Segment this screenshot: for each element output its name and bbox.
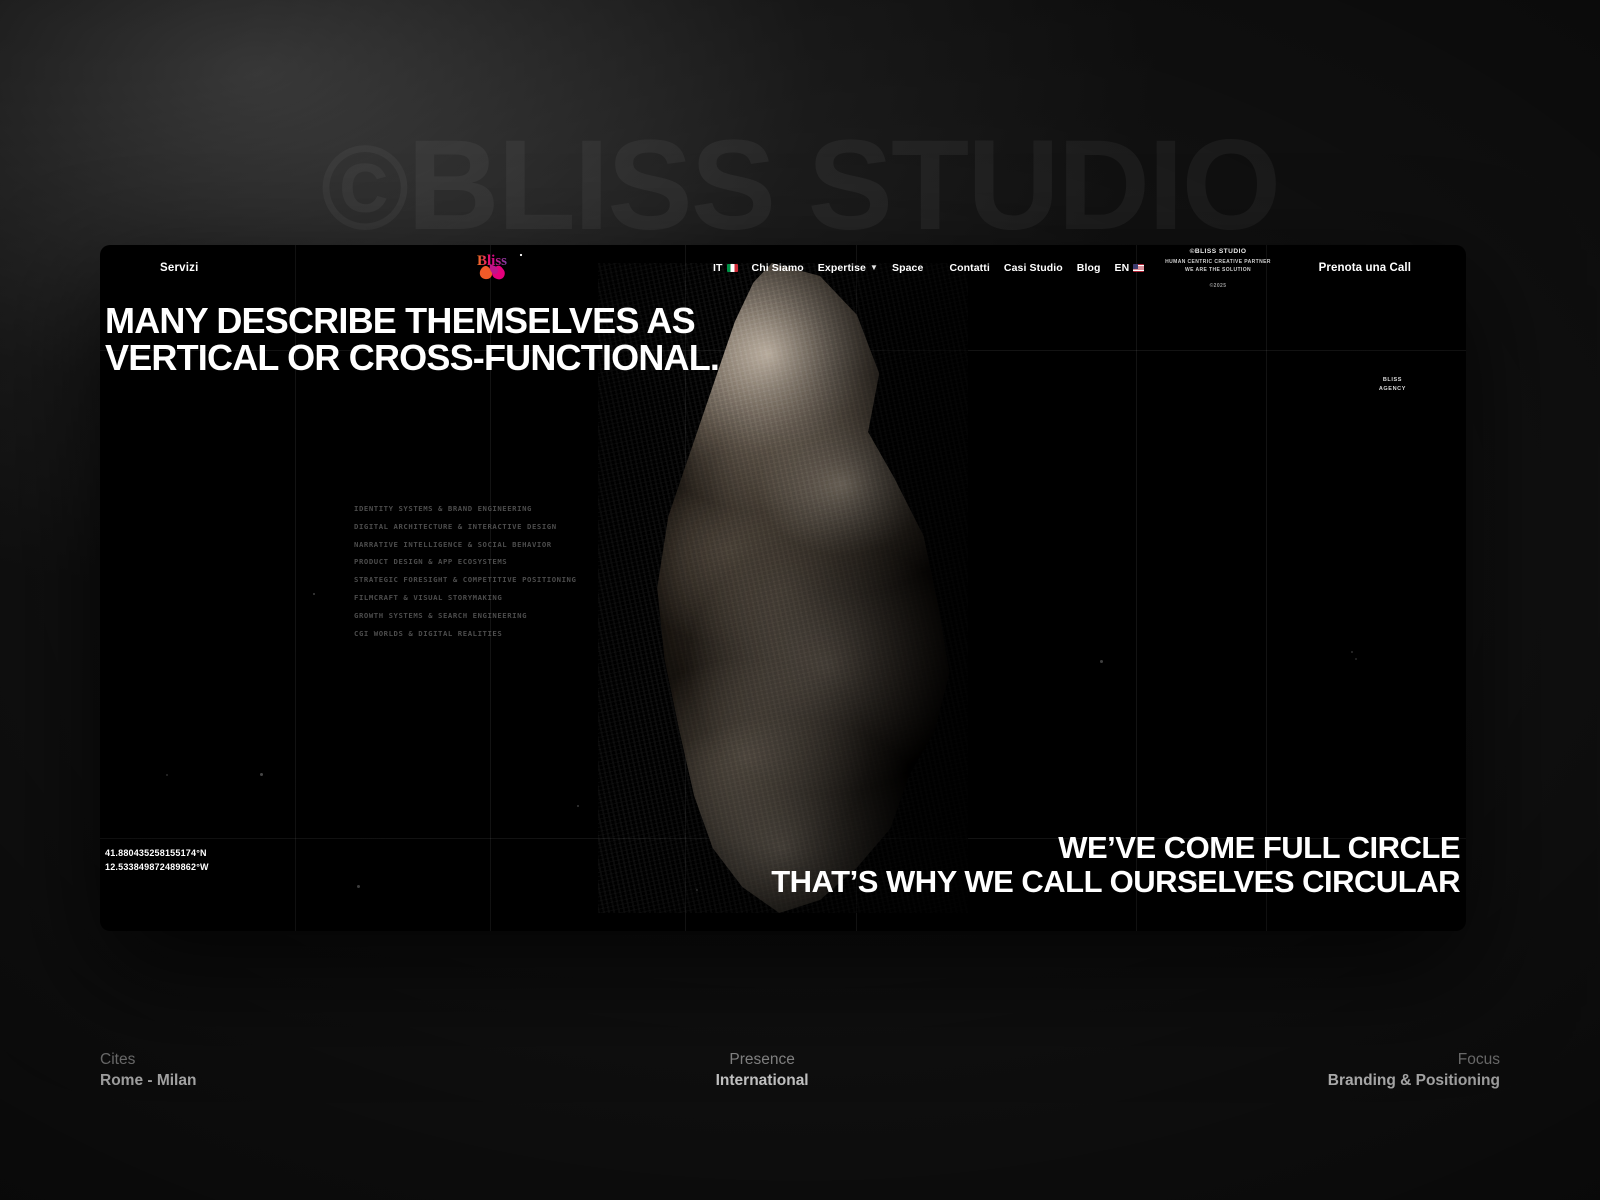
page-root: ©BLISS STUDIO xyxy=(0,0,1600,1200)
service-item[interactable]: STRATEGIC FORESIGHT & COMPETITIVE POSITI… xyxy=(354,576,576,583)
badge-line-1: BLISS xyxy=(1379,376,1406,385)
service-item[interactable]: NARRATIVE INTELLIGENCE & SOCIAL BEHAVIOR xyxy=(354,541,576,548)
footer-cites-group: Cites Rome - Milan xyxy=(100,1051,196,1090)
brand-line-3: WE ARE THE SOLUTION xyxy=(1118,267,1318,275)
hero-headline-line-2: VERTICAL OR CROSS-FUNCTIONAL. xyxy=(105,339,719,376)
nav-item-label: Casi Studio xyxy=(1004,262,1063,274)
footer-focus-label: Focus xyxy=(1458,1051,1500,1069)
hero-subheadline-line-2: THAT’S WHY WE CALL OURSELVES CIRCULAR xyxy=(771,865,1460,900)
footer-focus-group: Focus Branding & Positioning xyxy=(1328,1051,1500,1090)
hero-viewport: Servizi Bliss xyxy=(100,245,1466,931)
main-nav-list: IT Chi Siamo Expertise ▼ Space Contatti xyxy=(713,245,1144,291)
bliss-logo[interactable]: Bliss xyxy=(477,252,529,282)
nav-item-casi-studio[interactable]: Casi Studio xyxy=(1004,262,1063,274)
latitude-value: 41.880435258155174°N xyxy=(105,847,209,861)
service-item[interactable]: PRODUCT DESIGN & APP ECOSYSTEMS xyxy=(354,558,576,565)
nav-item-space[interactable]: Space xyxy=(892,262,923,274)
nav-item-label: Chi Siamo xyxy=(752,262,804,274)
footer-focus-value: Branding & Positioning xyxy=(1328,1072,1500,1090)
nav-item-chi-siamo[interactable]: Chi Siamo xyxy=(752,262,804,274)
top-navigation-bar: Servizi Bliss xyxy=(100,245,1466,291)
nav-item-contatti[interactable]: Contatti xyxy=(949,262,989,274)
nav-item-label: Blog xyxy=(1077,262,1101,274)
footer-cites-value: Rome - Milan xyxy=(100,1072,196,1090)
service-item[interactable]: GROWTH SYSTEMS & SEARCH ENGINEERING xyxy=(354,612,576,619)
nav-item-label: Expertise xyxy=(818,262,866,274)
footer-presence-label: Presence xyxy=(729,1051,794,1069)
brand-line-2: HUMAN CENTRIC CREATIVE PARTNER xyxy=(1118,259,1318,267)
nav-item-blog[interactable]: Blog xyxy=(1077,262,1101,274)
longitude-value: 12.533849872489862°W xyxy=(105,861,209,875)
geo-coordinates: 41.880435258155174°N 12.533849872489862°… xyxy=(105,847,209,875)
nav-item-expertise[interactable]: Expertise ▼ xyxy=(818,262,878,274)
hero-headline: MANY DESCRIBE THEMSELVES AS VERTICAL OR … xyxy=(105,302,719,377)
bliss-agency-badge: BLISS AGENCY xyxy=(1379,376,1406,394)
flag-it-icon xyxy=(727,264,738,272)
nav-item-label: Contatti xyxy=(949,262,989,274)
nav-servizi-link[interactable]: Servizi xyxy=(160,262,198,274)
nav-item-label: IT xyxy=(713,262,723,274)
hero-subheadline: WE’VE COME FULL CIRCLE THAT’S WHY WE CAL… xyxy=(771,831,1460,900)
page-footer: Cites Rome - Milan Presence Internationa… xyxy=(100,1051,1500,1090)
brand-copyright-year: ©2025 xyxy=(1118,283,1318,289)
watermark-copyright-symbol: © xyxy=(321,121,407,255)
footer-presence-value: International xyxy=(716,1072,809,1090)
service-item[interactable]: FILMCRAFT & VISUAL STORYMAKING xyxy=(354,594,576,601)
brand-statement-block: ©BLISS STUDIO HUMAN CENTRIC CREATIVE PAR… xyxy=(1118,248,1318,289)
background-watermark: ©BLISS STUDIO xyxy=(321,112,1279,259)
service-item[interactable]: IDENTITY SYSTEMS & BRAND ENGINEERING xyxy=(354,505,576,512)
brand-line-1: ©BLISS STUDIO xyxy=(1118,248,1318,255)
nav-item-it[interactable]: IT xyxy=(713,262,738,274)
nav-item-label: Space xyxy=(892,262,923,274)
footer-cites-label: Cites xyxy=(100,1051,196,1069)
book-a-call-button[interactable]: Prenota una Call xyxy=(1319,245,1411,291)
service-item[interactable]: DIGITAL ARCHITECTURE & INTERACTIVE DESIG… xyxy=(354,523,576,530)
service-item[interactable]: CGI WORLDS & DIGITAL REALITIES xyxy=(354,630,576,637)
footer-presence-group: Presence International xyxy=(716,1051,809,1090)
chevron-down-icon: ▼ xyxy=(870,264,878,272)
hero-subheadline-line-1: WE’VE COME FULL CIRCLE xyxy=(771,831,1460,866)
services-list: IDENTITY SYSTEMS & BRAND ENGINEERING DIG… xyxy=(354,505,576,647)
badge-line-2: AGENCY xyxy=(1379,385,1406,394)
watermark-text: BLISS STUDIO xyxy=(407,114,1279,257)
hero-headline-line-1: MANY DESCRIBE THEMSELVES AS xyxy=(105,302,719,339)
